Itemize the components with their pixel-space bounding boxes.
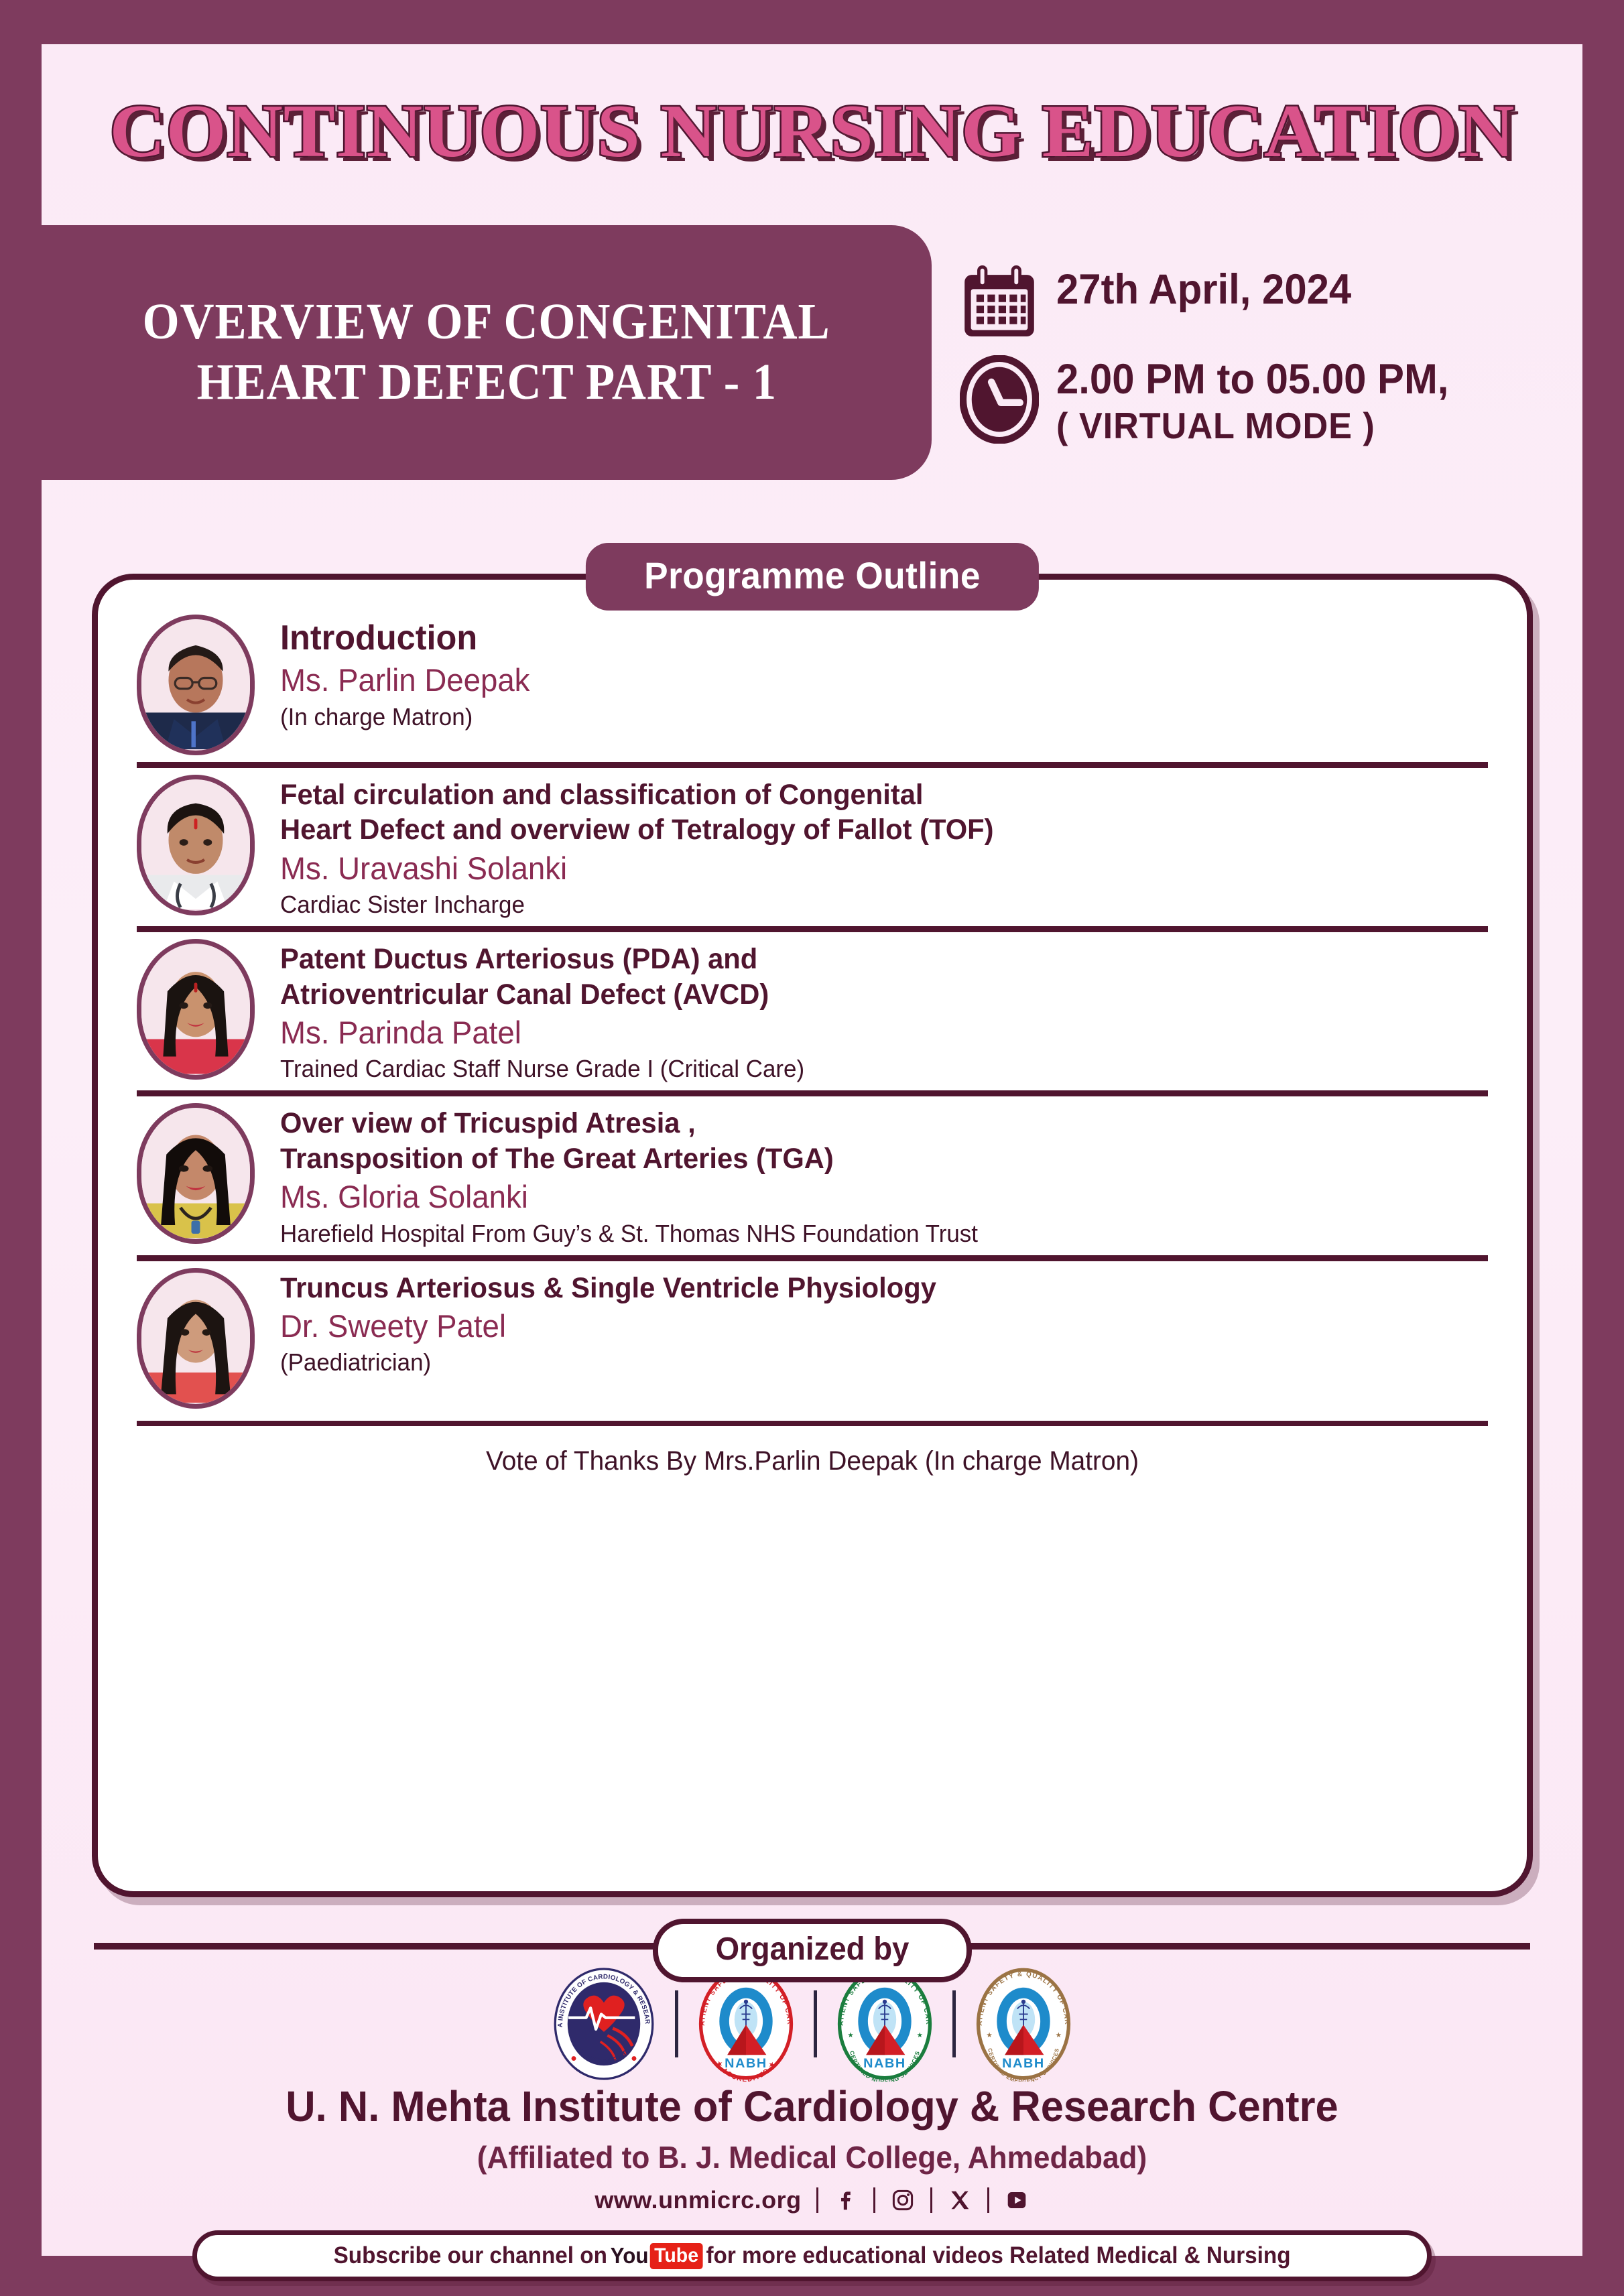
- avatar: [137, 615, 255, 755]
- date-row: 27th April, 2024: [960, 265, 1623, 344]
- youtube-icon[interactable]: [1004, 2187, 1029, 2213]
- subscribe-text: Subscribe our channel on YouTube for mor…: [334, 2242, 1291, 2269]
- logo-divider: [675, 1990, 678, 2057]
- institute-block: U. N. Mehta Institute of Cardiology & Re…: [42, 2082, 1582, 2214]
- link-divider: [873, 2187, 875, 2213]
- programme-outline-label: Programme Outline: [644, 554, 981, 597]
- session-divider: [137, 762, 1488, 768]
- logo-divider: [814, 1990, 817, 2057]
- datetime-block: 27th April, 2024 2.00 PM to 05.00 PM, ( …: [960, 265, 1623, 448]
- programme-outline-badge: Programme Outline: [585, 543, 1038, 611]
- subscribe-prefix: Subscribe our channel on: [334, 2242, 607, 2269]
- svg-text:★: ★: [847, 2031, 854, 2039]
- event-time: 2.00 PM to 05.00 PM,: [1056, 355, 1448, 403]
- link-divider: [987, 2187, 989, 2213]
- session-text: Over view of Tricuspid Atresia , Transpo…: [280, 1103, 1488, 1248]
- youtube-you-text: You: [611, 2243, 649, 2269]
- session-role: Cardiac Sister Incharge: [280, 889, 1452, 919]
- link-divider: [930, 2187, 932, 2213]
- facebook-icon[interactable]: [833, 2187, 859, 2213]
- avatar: [137, 1103, 255, 1244]
- session-speaker: Ms. Gloria Solanki: [280, 1177, 1452, 1216]
- calendar-icon: [960, 265, 1039, 344]
- session-row: Over view of Tricuspid Atresia , Transpo…: [137, 1099, 1488, 1248]
- session-topic: Over view of Tricuspid Atresia , Transpo…: [280, 1106, 1452, 1176]
- session-topic: Patent Ductus Arteriosus (PDA) and Atrio…: [280, 942, 1452, 1012]
- session-row: Introduction Ms. Parlin Deepak (In charg…: [137, 611, 1488, 755]
- session-divider: [137, 1090, 1488, 1096]
- session-text: Truncus Arteriosus & Single Ventricle Ph…: [280, 1268, 1488, 1378]
- svg-text:★: ★: [1056, 2031, 1062, 2039]
- session-divider: [137, 1421, 1488, 1426]
- svg-text:★: ★: [917, 2031, 924, 2039]
- programme-card-inner: Introduction Ms. Parlin Deepak (In charg…: [98, 580, 1527, 1891]
- event-mode: ( VIRTUAL MODE ): [1056, 403, 1448, 448]
- session-text: Introduction Ms. Parlin Deepak (In charg…: [280, 615, 1488, 732]
- session-row: Patent Ductus Arteriosus (PDA) and Atrio…: [137, 935, 1488, 1084]
- institute-name: U. N. Mehta Institute of Cardiology & Re…: [72, 2082, 1552, 2131]
- svg-text:★: ★: [986, 2031, 993, 2039]
- logo-strip: U. N. MEHTA INSTITUTE OF CARDIOLOGY & RE…: [42, 1966, 1582, 2082]
- session-speaker: Ms. Uravashi Solanki: [280, 849, 1452, 888]
- session-speaker: Dr. Sweety Patel: [280, 1307, 1452, 1346]
- link-divider: [816, 2187, 818, 2213]
- logo-divider: [952, 1990, 956, 2057]
- institute-affiliation: (Affiliated to B. J. Medical College, Ah…: [72, 2139, 1552, 2175]
- poster-root: CONTINUOUS NURSING EDUCATION OVERVIEW OF…: [0, 0, 1624, 2296]
- un-mehta-institute-logo: U. N. MEHTA INSTITUTE OF CARDIOLOGY & RE…: [550, 1966, 658, 2082]
- x-twitter-icon[interactable]: [947, 2187, 973, 2213]
- website-link[interactable]: www.unmicrc.org: [595, 2186, 801, 2214]
- date-text-wrap: 27th April, 2024: [1056, 265, 1367, 314]
- page-title: CONTINUOUS NURSING EDUCATION: [109, 88, 1515, 175]
- avatar: [137, 775, 255, 915]
- session-role: Harefield Hospital From Guy’s & St. Thom…: [280, 1218, 1452, 1249]
- avatar: [137, 939, 255, 1080]
- organized-by-badge: Organized by: [652, 1919, 971, 1982]
- svg-text:NABH: NABH: [863, 2056, 906, 2071]
- time-text-wrap: 2.00 PM to 05.00 PM, ( VIRTUAL MODE ): [1056, 355, 1469, 448]
- organized-by-label: Organized by: [715, 1931, 909, 1968]
- avatar: [137, 1268, 255, 1409]
- subscribe-bar[interactable]: Subscribe our channel on YouTube for mor…: [192, 2230, 1432, 2281]
- session-role: (In charge Matron): [280, 702, 1452, 732]
- session-title-line-2: HEART DEFECT PART - 1: [196, 353, 776, 413]
- session-title-ribbon: OVERVIEW OF CONGENITAL HEART DEFECT PART…: [0, 225, 932, 480]
- nabh-emergency-logo: NABH PATIENT SAFETY & QUALITY OF CARE CE…: [973, 1966, 1074, 2082]
- session-divider: [137, 1255, 1488, 1261]
- session-speaker: Ms. Parinda Patel: [280, 1013, 1452, 1052]
- session-row: Truncus Arteriosus & Single Ventricle Ph…: [137, 1264, 1488, 1409]
- svg-text:NABH: NABH: [1002, 2056, 1045, 2071]
- subscribe-suffix: for more educational videos Related Medi…: [706, 2242, 1290, 2269]
- masthead: CONTINUOUS NURSING EDUCATION: [42, 44, 1582, 218]
- session-role: Trained Cardiac Staff Nurse Grade I (Cri…: [280, 1054, 1452, 1084]
- poster-page: CONTINUOUS NURSING EDUCATION OVERVIEW OF…: [42, 44, 1582, 2256]
- event-date: 27th April, 2024: [1056, 265, 1351, 314]
- time-row: 2.00 PM to 05.00 PM, ( VIRTUAL MODE ): [960, 355, 1623, 448]
- youtube-tube-text: Tube: [649, 2243, 702, 2269]
- svg-text:NABH: NABH: [725, 2056, 767, 2071]
- session-text: Fetal circulation and classification of …: [280, 775, 1488, 919]
- youtube-wordmark-icon: YouTube: [611, 2243, 703, 2269]
- session-topic: Introduction: [280, 617, 1452, 659]
- session-divider: [137, 926, 1488, 932]
- session-topic: Truncus Arteriosus & Single Ventricle Ph…: [280, 1271, 1452, 1305]
- vote-of-thanks: Vote of Thanks By Mrs.Parlin Deepak (In …: [157, 1429, 1468, 1476]
- nabh-nursing-logo: NABH PATIENT SAFETY & QUALITY OF CARE CE…: [834, 1966, 935, 2082]
- clock-icon: [960, 355, 1039, 447]
- session-topic: Fetal circulation and classification of …: [280, 777, 1452, 848]
- session-row: Fetal circulation and classification of …: [137, 771, 1488, 919]
- session-title-line-1: OVERVIEW OF CONGENITAL: [143, 292, 830, 353]
- session-speaker: Ms. Parlin Deepak: [280, 661, 1452, 700]
- nabh-accredited-logo: NABH PATIENT SAFETY & QUALITY OF CARE ★ …: [696, 1966, 796, 2082]
- instagram-icon[interactable]: [890, 2187, 916, 2213]
- programme-card: Introduction Ms. Parlin Deepak (In charg…: [92, 574, 1533, 1897]
- institute-links: www.unmicrc.org: [42, 2186, 1582, 2214]
- session-text: Patent Ductus Arteriosus (PDA) and Atrio…: [280, 939, 1488, 1084]
- session-role: (Paediatrician): [280, 1347, 1452, 1377]
